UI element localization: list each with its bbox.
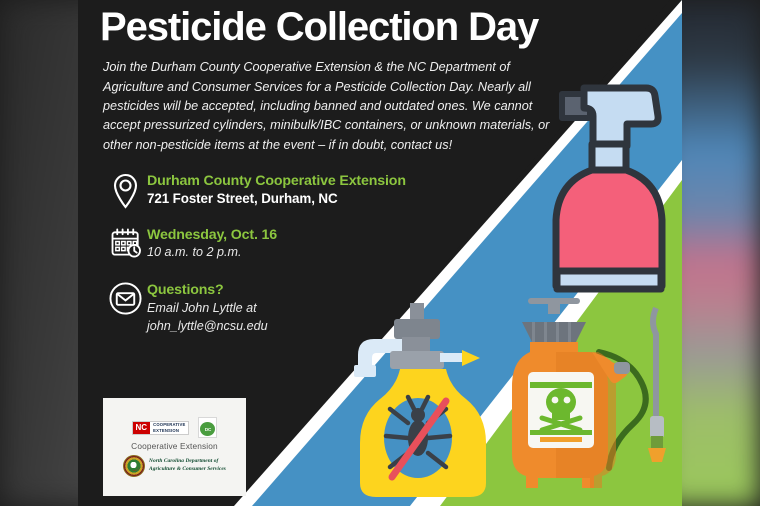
map-pin-icon (103, 171, 147, 209)
shield-badge-inner: DC (200, 422, 215, 436)
extension-wordmark: COOPERATIVE EXTENSION (150, 422, 188, 434)
logo-card: NC COOPERATIVE EXTENSION DC Cooperative … (103, 398, 246, 496)
calendar-clock-icon (103, 225, 147, 258)
questions-heading: Questions? (147, 281, 268, 299)
event-time: 10 a.m. to 2 p.m. (147, 244, 277, 262)
ncdacs-wordmark: North Carolina Department of Agriculture… (149, 458, 226, 474)
event-date: Wednesday, Oct. 16 (147, 226, 277, 244)
extension-line-2: EXTENSION (153, 428, 185, 433)
location-block: Durham County Cooperative Extension 721 … (103, 171, 570, 209)
cooperative-extension-caption: Cooperative Extension (131, 441, 218, 451)
envelope-icon (103, 280, 147, 315)
shield-text: DC (205, 427, 211, 432)
text-column: Pesticide Collection Day Join the Durham… (100, 0, 570, 335)
ncdacs-logo: North Carolina Department of Agriculture… (123, 455, 226, 477)
state-seal-icon (123, 455, 145, 477)
screenshot-root: Pesticide Collection Day Join the Durham… (0, 0, 760, 506)
contact-line: Email John Lyttle at (147, 300, 268, 318)
ncdacs-line-2: Agriculture & Consumer Services (149, 466, 226, 474)
logo-row-top: NC COOPERATIVE EXTENSION DC (132, 417, 218, 438)
nc-mark: NC (133, 422, 151, 434)
location-address: 721 Foster Street, Durham, NC (147, 190, 406, 208)
date-block: Wednesday, Oct. 16 10 a.m. to 2 p.m. (103, 225, 570, 262)
contact-email[interactable]: john_lyttle@ncsu.edu (147, 318, 268, 336)
location-venue: Durham County Cooperative Extension (147, 172, 406, 190)
intro-paragraph: Join the Durham County Cooperative Exten… (103, 58, 563, 154)
nc-cooperative-extension-logo: NC COOPERATIVE EXTENSION (132, 421, 190, 435)
ncdacs-line-1: North Carolina Department of (149, 458, 226, 466)
questions-block: Questions? Email John Lyttle at john_lyt… (103, 280, 570, 335)
page-title: Pesticide Collection Day (100, 6, 570, 48)
durham-county-shield-logo: DC (198, 417, 217, 438)
poster-card: Pesticide Collection Day Join the Durham… (78, 0, 682, 506)
